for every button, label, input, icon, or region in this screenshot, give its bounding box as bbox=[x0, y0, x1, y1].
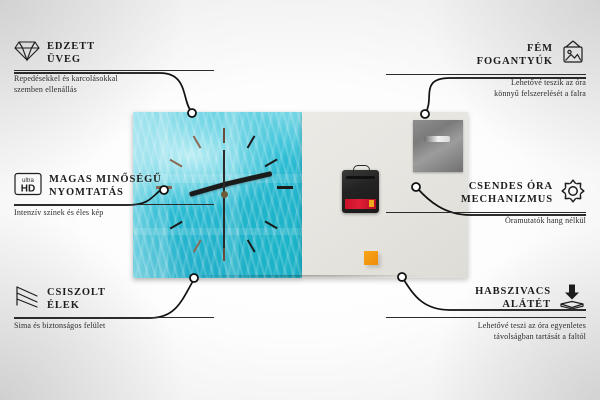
clock-tick bbox=[169, 159, 182, 168]
mechanism-hook bbox=[353, 165, 370, 175]
clock-tick bbox=[223, 246, 225, 261]
feature-description: Intenzív színek és éles kép bbox=[14, 208, 214, 219]
clock-tick bbox=[247, 239, 256, 252]
feature-metal-handles[interactable]: FÉM FOGANTYÚK Lehetővé teszik az óra kön… bbox=[386, 40, 586, 99]
feature-tempered-glass[interactable]: EDZETT ÜVEG Repedésekkel és karcolásokka… bbox=[14, 40, 214, 95]
battery-label bbox=[345, 199, 376, 209]
mechanism-vent bbox=[346, 176, 375, 179]
feature-divider bbox=[14, 204, 214, 205]
ultra-hd-badge-icon: ultra HD bbox=[14, 172, 42, 201]
foam-spacer-pad bbox=[364, 251, 378, 265]
feature-title: HABSZIVACS ALÁTÉT bbox=[475, 286, 551, 311]
feature-divider bbox=[14, 70, 214, 71]
infographic-canvas: EDZETT ÜVEG Repedésekkel és karcolásokka… bbox=[0, 0, 600, 400]
feature-description: Lehetővé teszi az óra egyenletes távolsá… bbox=[386, 321, 586, 342]
polished-edges-icon bbox=[14, 285, 40, 314]
clock-tick bbox=[193, 239, 202, 252]
diamond-icon bbox=[14, 40, 40, 67]
feature-header: FÉM FOGANTYÚK bbox=[386, 40, 586, 71]
feature-high-quality-print[interactable]: ultra HD MAGAS MINŐSÉGŰ NYOMTATÁS Intenz… bbox=[14, 172, 214, 219]
battery-label-mark bbox=[369, 200, 374, 207]
down-arrow-pad-icon bbox=[558, 283, 586, 314]
clock-center-cap bbox=[221, 191, 228, 198]
feature-description: Repedésekkel és karcolásokkal szemben el… bbox=[14, 74, 214, 95]
feature-divider bbox=[386, 212, 586, 213]
feature-title: CSISZOLT ÉLEK bbox=[47, 287, 106, 312]
clock-tick bbox=[247, 135, 256, 148]
clock-tick bbox=[264, 159, 277, 168]
feature-header: CSENDES ÓRA MECHANIZMUS bbox=[386, 178, 586, 209]
hanging-frame-icon bbox=[560, 40, 586, 71]
feature-title: MAGAS MINŐSÉGŰ NYOMTATÁS bbox=[49, 174, 162, 199]
quiet-clock-mechanism bbox=[342, 170, 379, 213]
feature-description: Lehetővé teszik az óra könnyű felszerelé… bbox=[386, 78, 586, 99]
feature-header: HABSZIVACS ALÁTÉT bbox=[386, 283, 586, 314]
feature-header: EDZETT ÜVEG bbox=[14, 40, 214, 67]
gear-icon bbox=[560, 178, 586, 209]
feature-title: FÉM FOGANTYÚK bbox=[477, 43, 553, 68]
hanger-slot bbox=[424, 136, 450, 142]
ultra-hd-main-text: HD bbox=[21, 184, 35, 195]
feature-divider bbox=[14, 317, 214, 318]
feature-divider bbox=[386, 74, 586, 75]
clock-tick bbox=[193, 135, 202, 148]
clock-tick bbox=[223, 128, 225, 143]
metal-hanger-plate bbox=[413, 120, 463, 172]
feature-description: Sima és biztonságos felület bbox=[14, 321, 214, 332]
feature-description: Óramutatók hang nélkül bbox=[386, 216, 586, 227]
feature-polished-edges[interactable]: CSISZOLT ÉLEK Sima és biztonságos felüle… bbox=[14, 285, 214, 332]
feature-title: EDZETT ÜVEG bbox=[47, 41, 95, 66]
feature-title: CSENDES ÓRA MECHANIZMUS bbox=[461, 181, 553, 206]
clock-tick bbox=[277, 186, 293, 189]
feature-header: ultra HD MAGAS MINŐSÉGŰ NYOMTATÁS bbox=[14, 172, 214, 201]
feature-foam-pad[interactable]: HABSZIVACS ALÁTÉT Lehetővé teszi az óra … bbox=[386, 283, 586, 342]
feature-quiet-mechanism[interactable]: CSENDES ÓRA MECHANIZMUS Óramutatók hang … bbox=[386, 178, 586, 227]
feature-header: CSISZOLT ÉLEK bbox=[14, 285, 214, 314]
clock-second-hand bbox=[223, 150, 225, 248]
feature-divider bbox=[386, 317, 586, 318]
